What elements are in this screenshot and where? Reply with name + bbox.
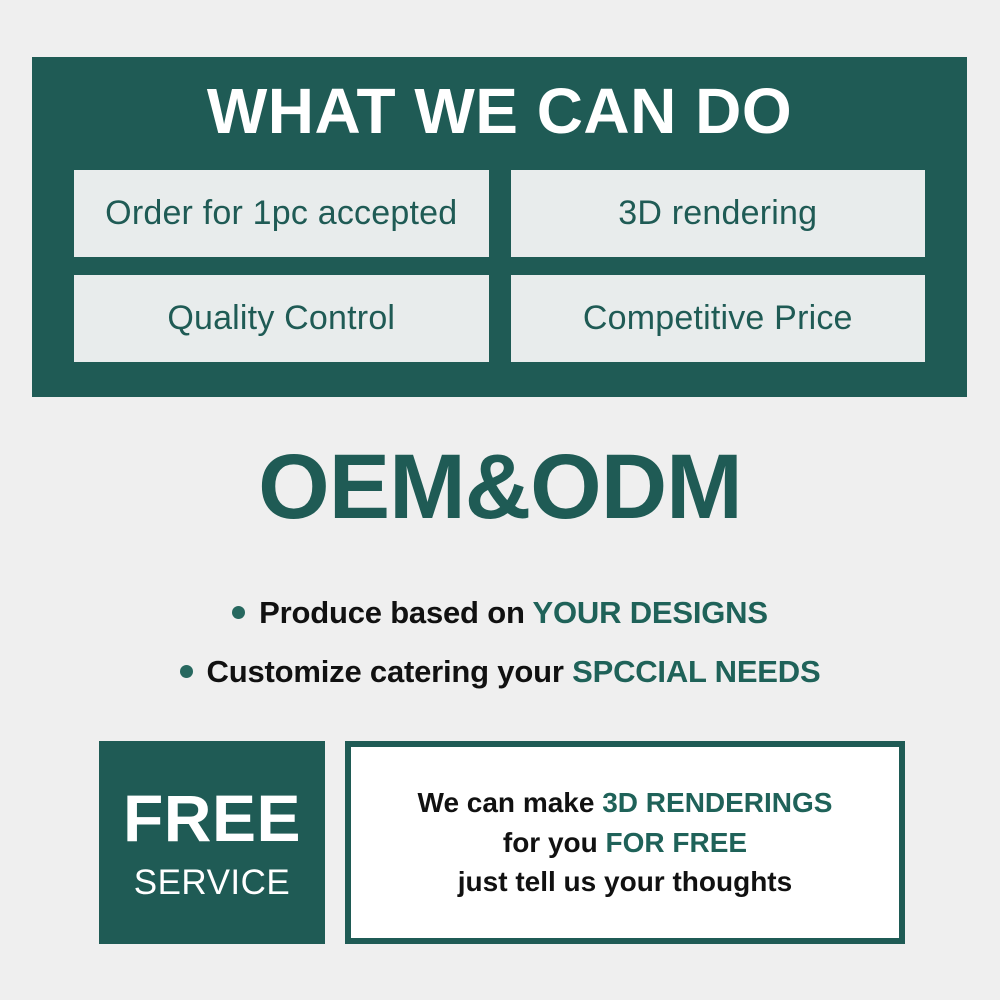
promo-line-2-plain: for you [503, 827, 606, 858]
promo-line-3: just tell us your thoughts [458, 862, 792, 902]
free-service-badge: FREE SERVICE [99, 741, 325, 944]
benefits-list: Produce based on YOUR DESIGNS Customize … [0, 583, 1000, 701]
feature-box-quality-control[interactable]: Quality Control [74, 275, 489, 362]
promo-line-2: for you FOR FREE [503, 823, 747, 863]
feature-box-competitive-price[interactable]: Competitive Price [511, 275, 926, 362]
bullet-dot-icon [232, 606, 245, 619]
promo-line-1-accent: 3D RENDERINGS [602, 787, 832, 818]
bullet-dot-icon [180, 665, 193, 678]
promo-line-1-plain: We can make [418, 787, 603, 818]
bullet-text: Produce based on YOUR DESIGNS [259, 595, 768, 631]
bullet-text: Customize catering your SPCCIAL NEEDS [207, 654, 821, 690]
oem-odm-headline: OEM&ODM [0, 441, 1000, 533]
capabilities-panel: WHAT WE CAN DO Order for 1pc accepted 3D… [32, 57, 967, 397]
bullet-accent-text: SPCCIAL NEEDS [572, 654, 820, 689]
poster-canvas: WHAT WE CAN DO Order for 1pc accepted 3D… [0, 0, 1000, 1000]
list-item: Produce based on YOUR DESIGNS [0, 583, 1000, 642]
promo-message-box: We can make 3D RENDERINGS for you FOR FR… [345, 741, 905, 944]
bullet-plain-text: Customize catering your [207, 654, 573, 689]
panel-title: WHAT WE CAN DO [32, 79, 967, 143]
feature-box-order-1pc[interactable]: Order for 1pc accepted [74, 170, 489, 257]
promo-line-1: We can make 3D RENDERINGS [418, 783, 833, 823]
free-badge-headline: FREE [123, 785, 301, 851]
bullet-accent-text: YOUR DESIGNS [533, 595, 768, 630]
feature-box-3d-rendering[interactable]: 3D rendering [511, 170, 926, 257]
list-item: Customize catering your SPCCIAL NEEDS [0, 642, 1000, 701]
bullet-plain-text: Produce based on [259, 595, 532, 630]
feature-grid: Order for 1pc accepted 3D rendering Qual… [74, 170, 925, 362]
promo-line-2-accent: FOR FREE [606, 827, 748, 858]
free-badge-subtitle: SERVICE [134, 865, 291, 900]
